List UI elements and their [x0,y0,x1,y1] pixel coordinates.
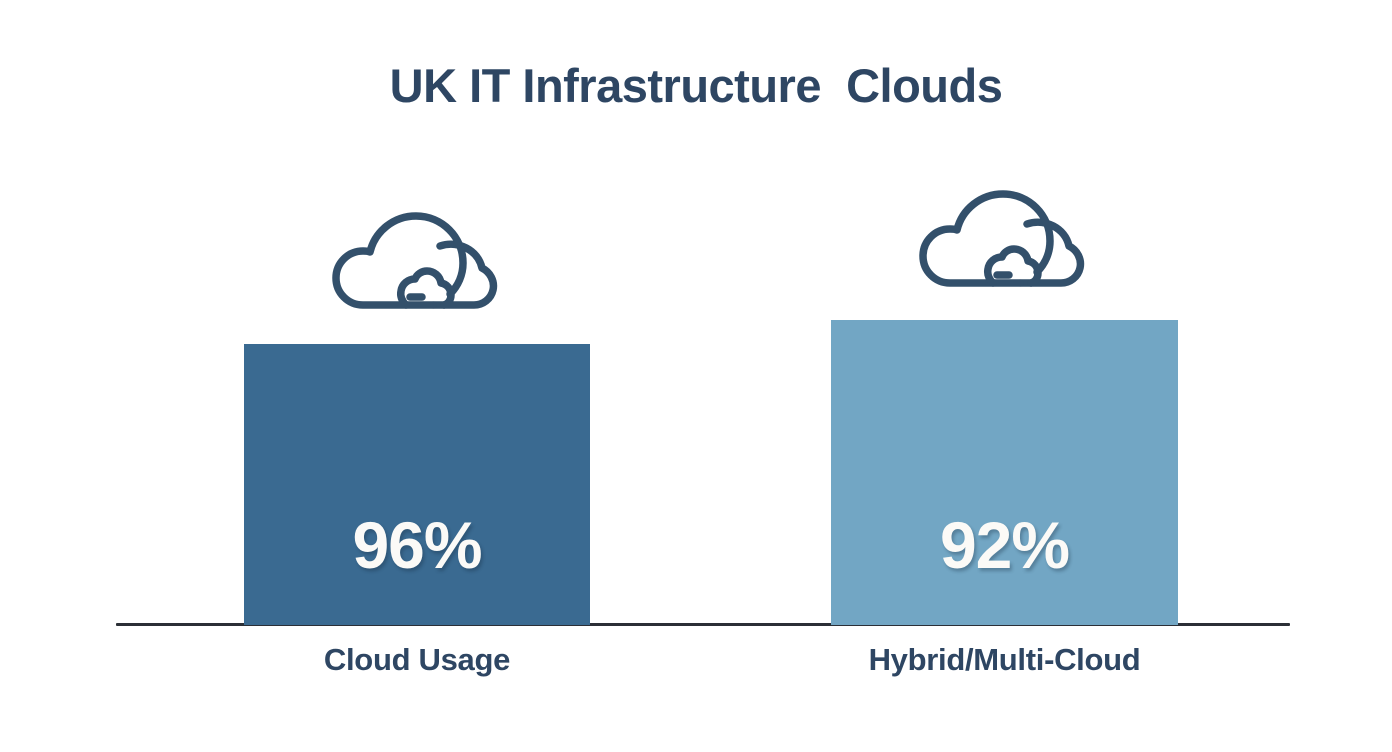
bar-category-label: Hybrid/Multi-Cloud [791,642,1218,678]
bar-group[interactable]: 92% Hybrid/Multi-Cloud [831,0,1178,752]
bar-value-label: 96% [244,512,590,578]
multi-cloud-icon [244,202,590,312]
plot-area: 96% Cloud Usage 92% Hybrid/Multi-Cloud [0,0,1392,752]
multi-cloud-icon [831,180,1178,290]
chart-canvas: UK IT Infrastructure Clouds [0,0,1392,752]
bar-value-label: 92% [831,512,1178,578]
bar-category-label: Cloud Usage [204,642,630,678]
bar-rect[interactable] [244,344,590,625]
bar-group[interactable]: 96% Cloud Usage [244,0,590,752]
